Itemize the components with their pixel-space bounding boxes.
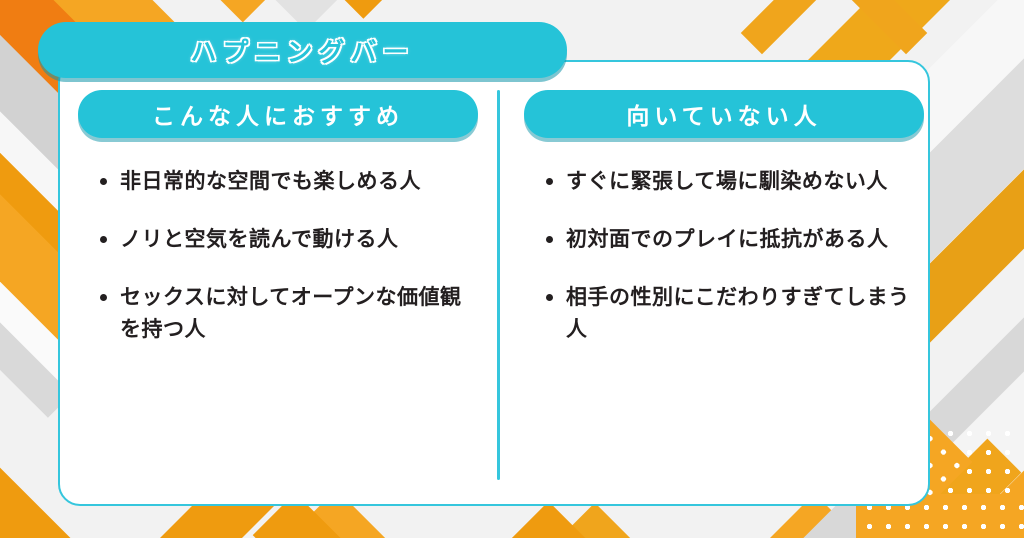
list-item: セックスに対してオープンな価値観を持つ人 [94, 282, 478, 346]
content-card: こんな人におすすめ 非日常的な空間でも楽しめる人 ノリと空気を読んで動ける人 セ… [58, 60, 930, 506]
column-heading-label: 向いていない人 [626, 97, 821, 131]
page-title: ハプニングバー [190, 32, 414, 69]
list-item: 相手の性別にこだわりすぎてしまう人 [540, 282, 924, 346]
column-not-suited: 向いていない人 すぐに緊張して場に馴染めない人 初対面でのプレイに抵抗がある人 … [496, 62, 938, 504]
infographic-canvas: ハプニングバー こんな人におすすめ 非日常的な空間でも楽しめる人 ノリと空気を読… [0, 0, 1024, 538]
column-recommended: こんな人におすすめ 非日常的な空間でも楽しめる人 ノリと空気を読んで動ける人 セ… [60, 62, 496, 504]
list-item: 非日常的な空間でも楽しめる人 [94, 166, 478, 198]
list-item: ノリと空気を読んで動ける人 [94, 224, 478, 256]
header-title-pill: ハプニングバー [38, 22, 567, 78]
column-heading-not-suited: 向いていない人 [524, 90, 924, 138]
bullet-list-recommended: 非日常的な空間でも楽しめる人 ノリと空気を読んで動ける人 セックスに対してオープ… [78, 166, 478, 346]
list-item: 初対面でのプレイに抵抗がある人 [540, 224, 924, 256]
column-heading-label: こんな人におすすめ [152, 97, 404, 131]
bullet-list-not-suited: すぐに緊張して場に馴染めない人 初対面でのプレイに抵抗がある人 相手の性別にこだ… [524, 166, 924, 346]
list-item: すぐに緊張して場に馴染めない人 [540, 166, 924, 198]
columns-wrapper: こんな人におすすめ 非日常的な空間でも楽しめる人 ノリと空気を読んで動ける人 セ… [60, 62, 928, 504]
column-heading-recommended: こんな人におすすめ [78, 90, 478, 138]
